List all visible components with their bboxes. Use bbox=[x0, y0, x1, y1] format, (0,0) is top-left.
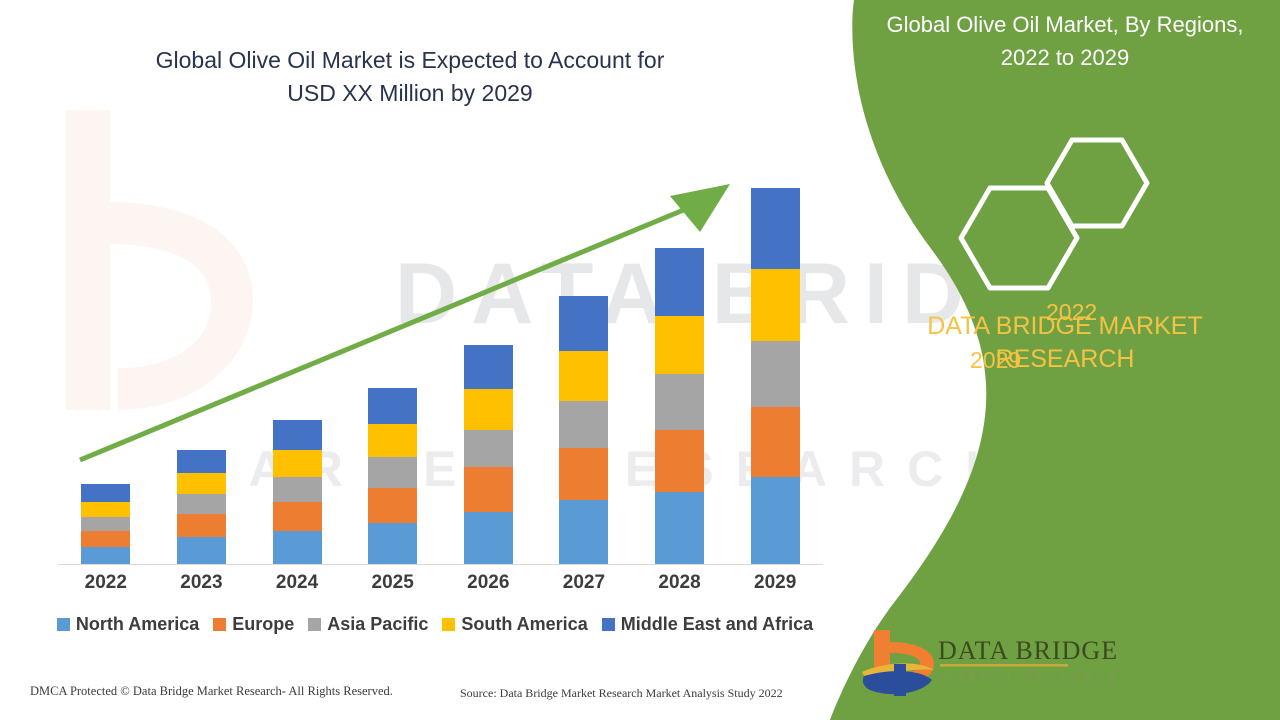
bar-segment bbox=[368, 424, 417, 457]
x-axis-tick-2029: 2029 bbox=[727, 572, 823, 602]
x-axis-tick-2023: 2023 bbox=[154, 572, 250, 602]
bar-group-2028 bbox=[632, 176, 728, 564]
bar-segment bbox=[368, 523, 417, 564]
bar-segment bbox=[655, 430, 704, 492]
x-axis-tick-2027: 2027 bbox=[536, 572, 632, 602]
bar-segment bbox=[655, 316, 704, 374]
bar-segment bbox=[273, 477, 322, 502]
bar-segment bbox=[368, 457, 417, 488]
bar-segment bbox=[559, 500, 608, 564]
legend-swatch-icon bbox=[57, 618, 70, 631]
bar-segment bbox=[177, 537, 226, 564]
x-axis-tick-2025: 2025 bbox=[345, 572, 441, 602]
x-axis-line bbox=[58, 564, 823, 565]
bar-segment bbox=[559, 401, 608, 448]
bar-segment bbox=[273, 450, 322, 477]
hexagon-badge-group: 2029 2022 bbox=[950, 128, 1180, 293]
legend-item[interactable]: South America bbox=[442, 614, 587, 635]
stacked-bar bbox=[368, 388, 417, 565]
legend-item[interactable]: Asia Pacific bbox=[308, 614, 428, 635]
stacked-bar-series bbox=[58, 176, 823, 564]
stacked-bar bbox=[273, 420, 322, 564]
legend-label: South America bbox=[461, 614, 587, 635]
bar-segment bbox=[655, 248, 704, 316]
bar-segment bbox=[368, 488, 417, 523]
bar-segment bbox=[751, 407, 800, 477]
bar-segment bbox=[177, 514, 226, 537]
bar-group-2024 bbox=[249, 176, 345, 564]
bar-segment bbox=[464, 512, 513, 564]
chart-legend: North AmericaEuropeAsia PacificSouth Ame… bbox=[40, 614, 830, 635]
brand-line-2: RESEARCH bbox=[860, 343, 1270, 376]
bar-segment bbox=[464, 345, 513, 390]
stacked-bar bbox=[81, 484, 130, 564]
bar-segment bbox=[273, 420, 322, 449]
bar-segment bbox=[751, 341, 800, 407]
bar-segment bbox=[177, 494, 226, 513]
legend-swatch-icon bbox=[308, 618, 321, 631]
x-axis-tick-2028: 2028 bbox=[632, 572, 728, 602]
x-axis-labels: 20222023202420252026202720282029 bbox=[58, 572, 823, 602]
bar-group-2025 bbox=[345, 176, 441, 564]
bar-segment bbox=[559, 351, 608, 401]
brand-name: DATA BRIDGE MARKET RESEARCH bbox=[860, 310, 1270, 376]
legend-swatch-icon bbox=[442, 618, 455, 631]
source-notice: Source: Data Bridge Market Research Mark… bbox=[460, 686, 783, 701]
legend-label: North America bbox=[76, 614, 199, 635]
bar-segment bbox=[368, 388, 417, 425]
bar-segment bbox=[655, 374, 704, 430]
bar-segment bbox=[751, 269, 800, 341]
copyright-notice: DMCA Protected © Data Bridge Market Rese… bbox=[30, 684, 393, 699]
stacked-bar bbox=[751, 188, 800, 564]
x-axis-tick-2026: 2026 bbox=[441, 572, 537, 602]
panel-title-line-1: Global Olive Oil Market, By Regions, bbox=[860, 8, 1270, 41]
stacked-bar bbox=[464, 345, 513, 564]
chart-title-line-1: Global Olive Oil Market is Expected to A… bbox=[0, 44, 820, 77]
bar-group-2026 bbox=[441, 176, 537, 564]
bar-segment bbox=[655, 492, 704, 564]
bar-segment bbox=[464, 389, 513, 430]
bar-segment bbox=[559, 448, 608, 500]
legend-swatch-icon bbox=[213, 618, 226, 631]
stacked-bar bbox=[655, 248, 704, 564]
bar-segment bbox=[177, 450, 226, 473]
stacked-bar bbox=[177, 450, 226, 564]
legend-label: Middle East and Africa bbox=[621, 614, 813, 635]
bar-segment bbox=[751, 188, 800, 269]
bar-segment bbox=[273, 502, 322, 531]
bar-group-2029 bbox=[727, 176, 823, 564]
bar-segment bbox=[273, 531, 322, 564]
bar-segment bbox=[81, 484, 130, 501]
data-bridge-logo: DATA BRIDGE MARKET RESEARCH bbox=[860, 628, 1085, 700]
bar-segment bbox=[177, 473, 226, 494]
legend-swatch-icon bbox=[602, 618, 615, 631]
hexagon-badge-icon bbox=[950, 128, 1180, 293]
x-axis-tick-2022: 2022 bbox=[58, 572, 154, 602]
bar-group-2027 bbox=[536, 176, 632, 564]
bar-segment bbox=[751, 477, 800, 564]
infographic-canvas: DATA BRIDGE MARKET RESEARCH Global Olive… bbox=[0, 0, 1280, 720]
chart-title-line-2: USD XX Million by 2029 bbox=[0, 77, 820, 110]
legend-item[interactable]: North America bbox=[57, 614, 199, 635]
bar-segment bbox=[81, 547, 130, 564]
legend-item[interactable]: Middle East and Africa bbox=[602, 614, 813, 635]
bar-segment bbox=[81, 517, 130, 531]
bar-segment bbox=[81, 531, 130, 547]
bar-segment bbox=[464, 430, 513, 467]
bar-segment bbox=[464, 467, 513, 512]
page-title: Global Olive Oil Market is Expected to A… bbox=[0, 44, 820, 110]
panel-content: Global Olive Oil Market, By Regions, 202… bbox=[840, 0, 1280, 720]
x-axis-tick-2024: 2024 bbox=[249, 572, 345, 602]
legend-label: Asia Pacific bbox=[327, 614, 428, 635]
logo-wordmark: DATA BRIDGE bbox=[938, 636, 1118, 666]
legend-label: Europe bbox=[232, 614, 294, 635]
panel-title-line-2: 2022 to 2029 bbox=[860, 41, 1270, 74]
chart-plot-area bbox=[58, 175, 823, 565]
panel-title: Global Olive Oil Market, By Regions, 202… bbox=[860, 8, 1270, 74]
bar-segment bbox=[559, 296, 608, 350]
legend-item[interactable]: Europe bbox=[213, 614, 294, 635]
bar-group-2022 bbox=[58, 176, 154, 564]
stacked-bar bbox=[559, 296, 608, 564]
bar-group-2023 bbox=[154, 176, 250, 564]
logo-tagline: MARKET RESEARCH bbox=[942, 672, 1121, 683]
brand-line-1: DATA BRIDGE MARKET bbox=[860, 310, 1270, 343]
bar-segment bbox=[81, 502, 130, 518]
